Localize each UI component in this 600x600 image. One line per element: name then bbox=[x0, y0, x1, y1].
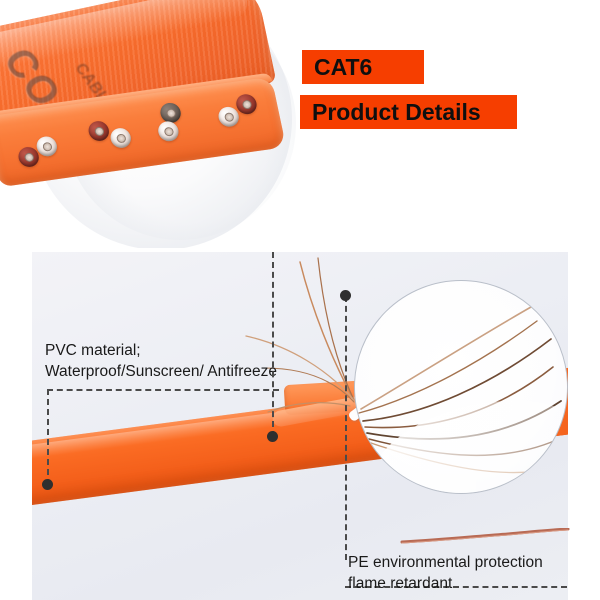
banner-product-details-label: Product Details bbox=[312, 101, 481, 124]
callout-pvc-line2: Waterproof/Sunscreen/ Antifreeze bbox=[45, 362, 277, 383]
magnifier-circle bbox=[354, 280, 568, 494]
callout-pvc-leader-horizontal bbox=[47, 389, 279, 391]
banner-cat6-label: CAT6 bbox=[314, 56, 372, 79]
callout-middle-marker-dot bbox=[267, 431, 278, 442]
top-panel: CO CABLE CAT6 Product bbox=[0, 0, 600, 248]
conductor bbox=[156, 120, 180, 142]
callout-pe-line2: flame retardant bbox=[348, 574, 543, 595]
conductor bbox=[234, 93, 258, 115]
banner-product-details: Product Details bbox=[300, 95, 517, 129]
conductor bbox=[109, 127, 133, 149]
callout-pe-marker-dot bbox=[340, 290, 351, 301]
callout-pe-leader-vertical bbox=[345, 296, 347, 560]
bottom-panel bbox=[32, 250, 568, 600]
callout-pvc-marker-dot bbox=[42, 479, 53, 490]
banner-cat6: CAT6 bbox=[302, 50, 424, 84]
product-detail-image: CO CABLE CAT6 Product bbox=[0, 0, 600, 600]
conductor bbox=[87, 120, 111, 142]
loose-copper-wire bbox=[400, 528, 570, 546]
callout-pe-line1: PE environmental protection bbox=[348, 553, 543, 574]
callout-pvc-line1: PVC material; bbox=[45, 341, 277, 362]
callout-pvc-leader-vertical bbox=[47, 389, 49, 485]
callout-pe: PE environmental protection flame retard… bbox=[348, 553, 543, 595]
callout-middle-leader bbox=[272, 252, 274, 437]
callout-pvc: PVC material; Waterproof/Sunscreen/ Anti… bbox=[45, 341, 277, 383]
